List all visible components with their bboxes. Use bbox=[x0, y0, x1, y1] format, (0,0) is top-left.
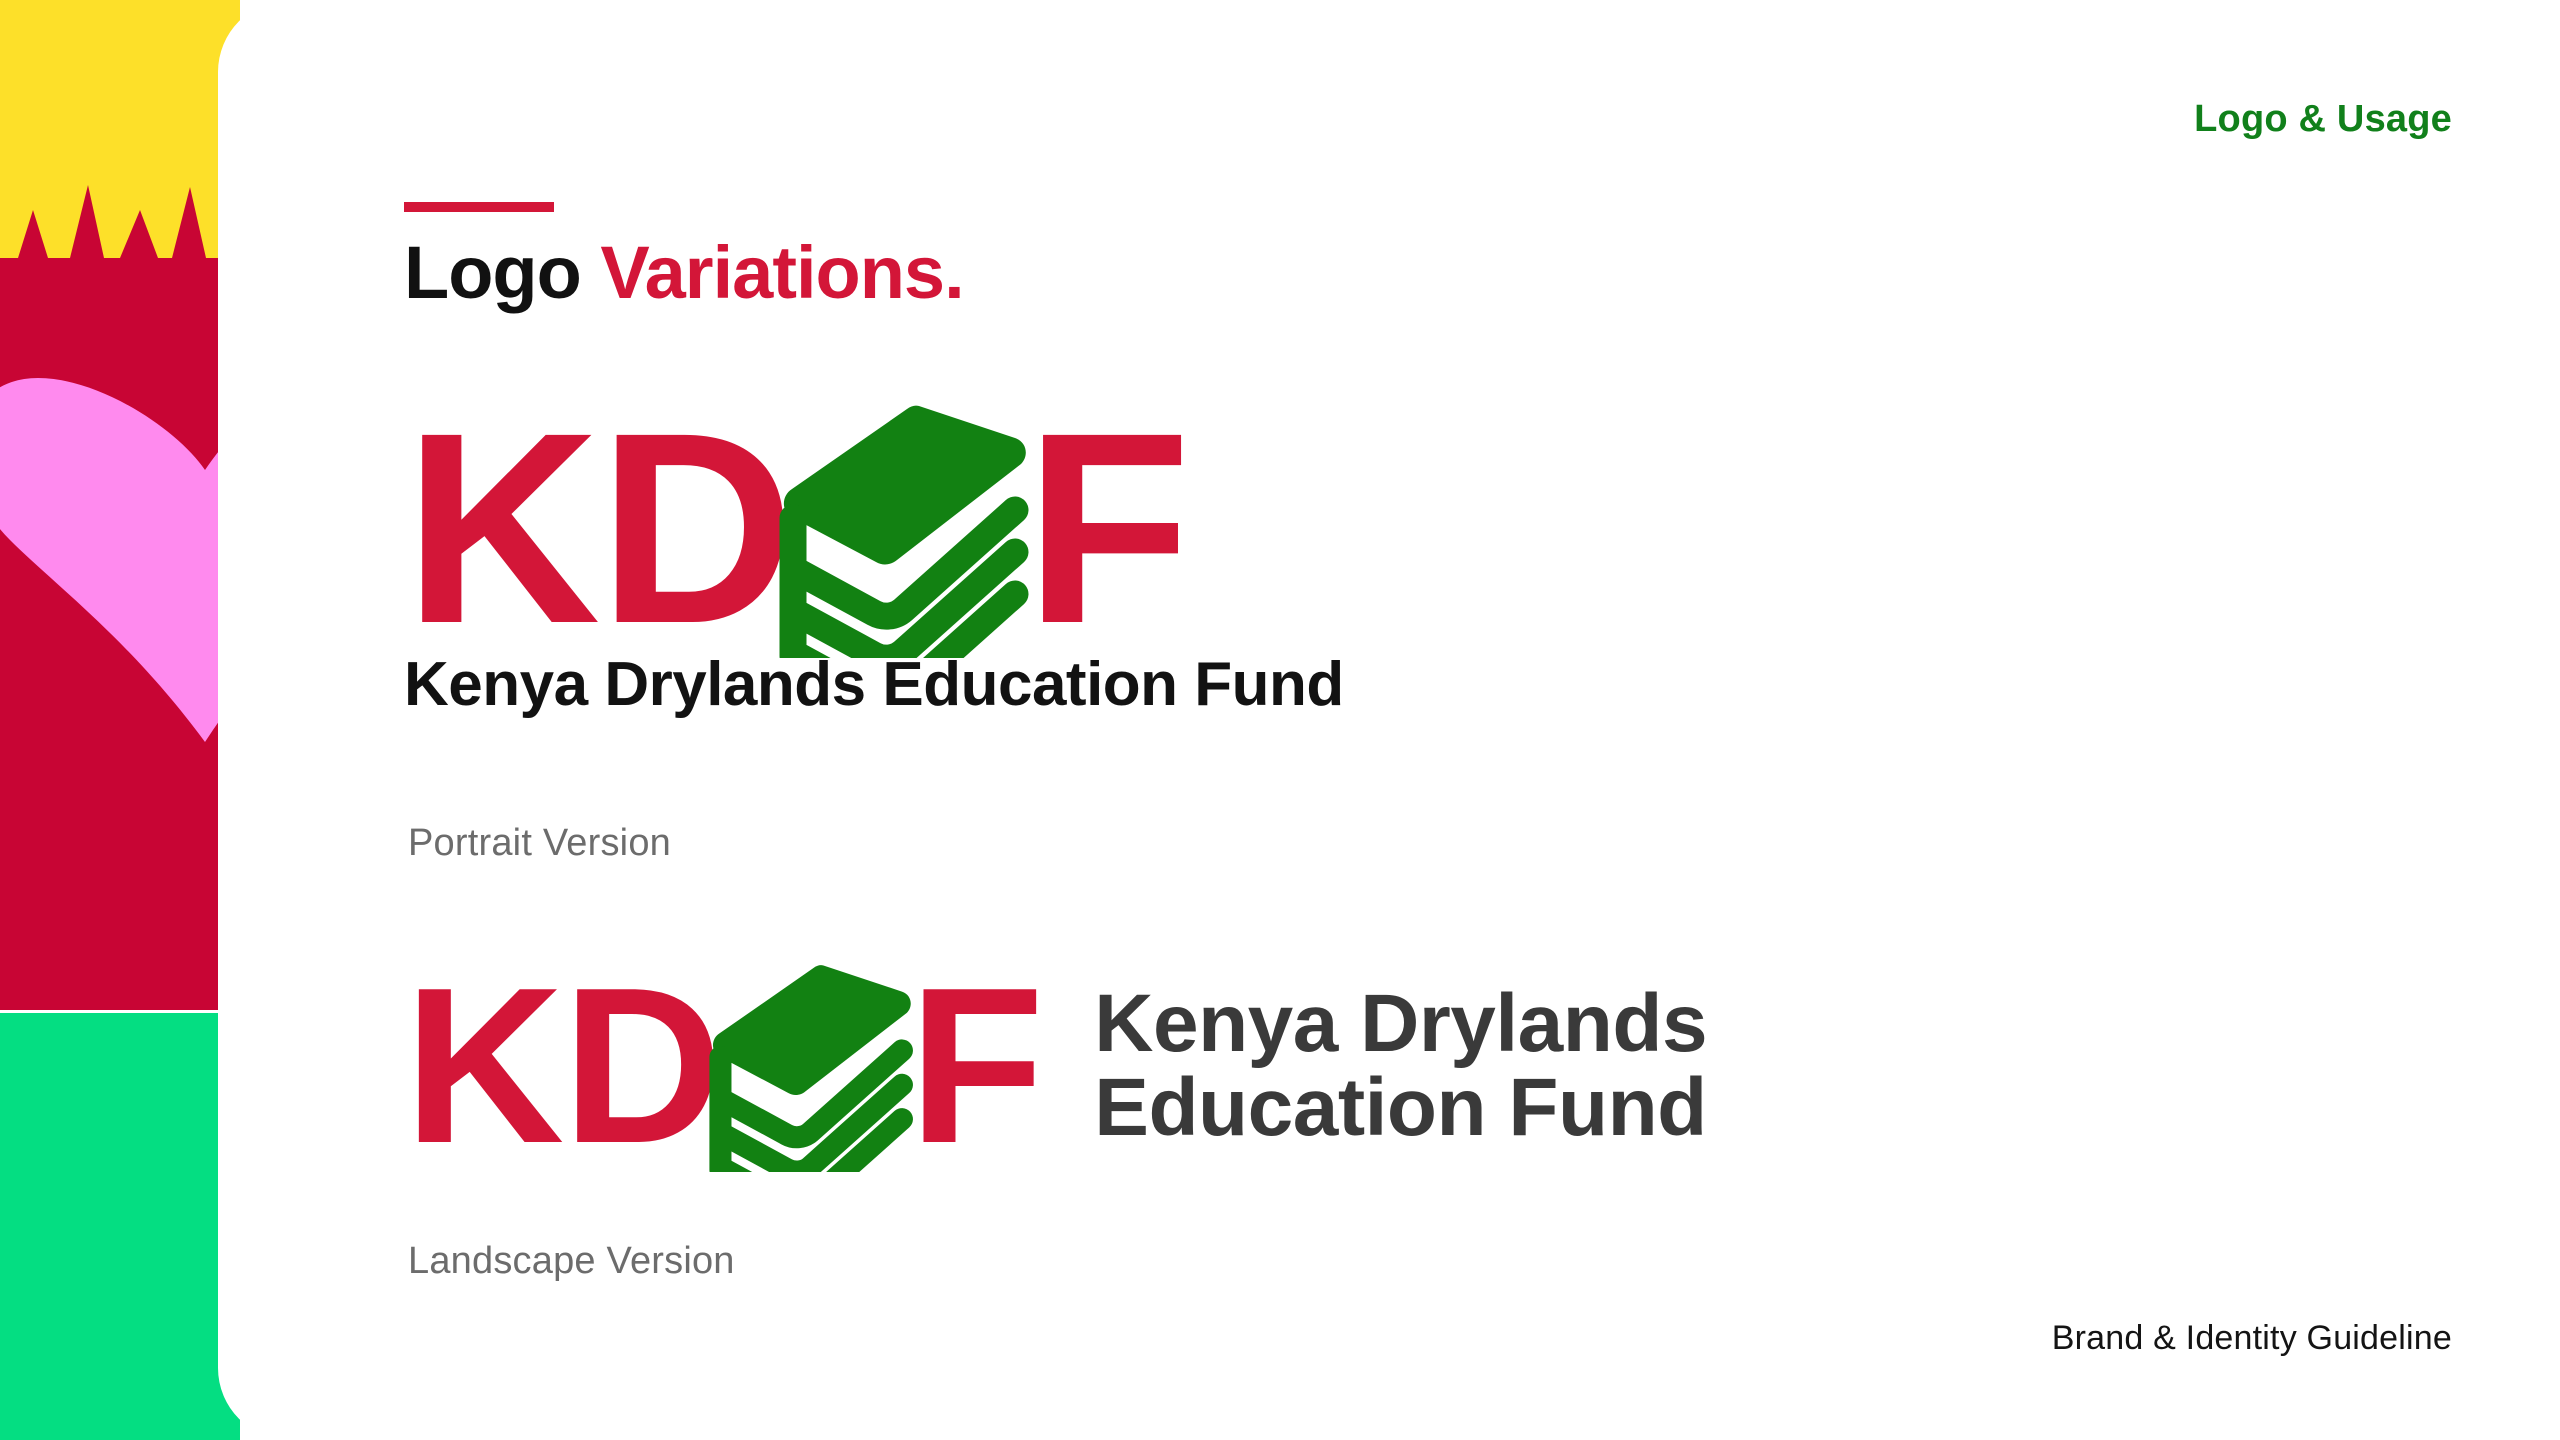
page-title: Logo Variations. bbox=[404, 202, 964, 310]
stacked-books-icon bbox=[709, 960, 915, 1172]
logo-tagline-portrait: Kenya Drylands Education Fund bbox=[404, 654, 1344, 716]
title-primary: Logo bbox=[404, 231, 581, 314]
footer-note: Brand & Identity Guideline bbox=[2052, 1319, 2452, 1358]
title-accent: Variations. bbox=[600, 231, 963, 314]
title-text: Logo Variations. bbox=[404, 236, 964, 310]
deco-mint-block bbox=[0, 1013, 240, 1440]
title-rule bbox=[404, 202, 554, 212]
caption-portrait-version: Portrait Version bbox=[408, 822, 671, 865]
logo-tagline-line2: Education Fund bbox=[1094, 1066, 1707, 1150]
slide-canvas: Logo & Usage Logo Variations. KD bbox=[0, 0, 2560, 1440]
wordmark-landscape: KD F bbox=[404, 960, 1042, 1172]
wordmark-portrait: KD F bbox=[404, 400, 1344, 658]
decorative-side-strip bbox=[0, 0, 240, 1440]
wordmark-letters-kd: KD bbox=[404, 975, 721, 1157]
section-tag: Logo & Usage bbox=[2194, 98, 2452, 141]
wordmark-letter-f: F bbox=[909, 975, 1043, 1157]
wordmark-letter-f: F bbox=[1025, 417, 1189, 640]
logo-tagline-landscape: Kenya Drylands Education Fund bbox=[1094, 982, 1707, 1151]
wordmark-letters-kd: KD bbox=[404, 417, 793, 640]
logo-tagline-line1: Kenya Drylands bbox=[1094, 982, 1707, 1066]
logo-lockup-landscape: KD F Kenya Drylands Education Fund bbox=[404, 960, 1707, 1172]
caption-landscape-version: Landscape Version bbox=[408, 1240, 735, 1283]
logo-lockup-portrait: KD F Kenya Drylands Education Fund bbox=[404, 400, 1344, 716]
stacked-books-icon bbox=[779, 400, 1031, 658]
